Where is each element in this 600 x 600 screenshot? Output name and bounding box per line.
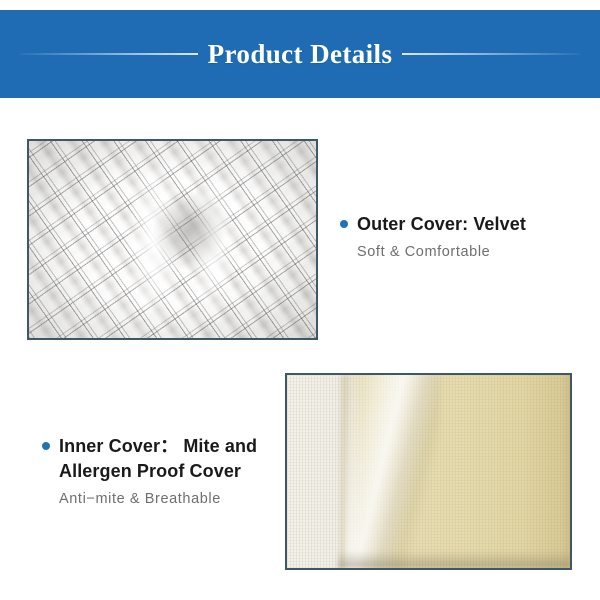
inner-cover-heading-row: Inner Cover： Mite and Allergen Proof Cov… (42, 434, 292, 484)
banner-inner: Product Details (0, 39, 600, 70)
inner-cover-title: Inner Cover： Mite and Allergen Proof Cov… (59, 434, 292, 484)
bullet-dot-icon (340, 220, 348, 228)
product-details-banner: Product Details (0, 10, 600, 98)
outer-cover-caption: Outer Cover: Velvet Soft & Comfortable (340, 212, 588, 263)
decorative-rule-left-icon (20, 53, 198, 55)
fabric-bottom-shadow (338, 551, 570, 568)
outer-cover-photo (27, 139, 318, 340)
inner-cover-photo (285, 373, 572, 570)
outer-cover-title: Outer Cover: Velvet (357, 212, 526, 237)
outer-cover-heading-row: Outer Cover: Velvet (340, 212, 588, 237)
decorative-rule-right-icon (402, 53, 580, 55)
inner-cover-subtitle: Anti−mite & Breathable (59, 488, 292, 510)
page-title: Product Details (208, 39, 393, 70)
inner-cover-caption: Inner Cover： Mite and Allergen Proof Cov… (42, 434, 292, 510)
outer-cover-subtitle: Soft & Comfortable (357, 241, 588, 263)
fabric-fold-highlight (344, 373, 440, 570)
velvet-vignette (29, 141, 316, 338)
bullet-dot-icon (42, 442, 50, 450)
